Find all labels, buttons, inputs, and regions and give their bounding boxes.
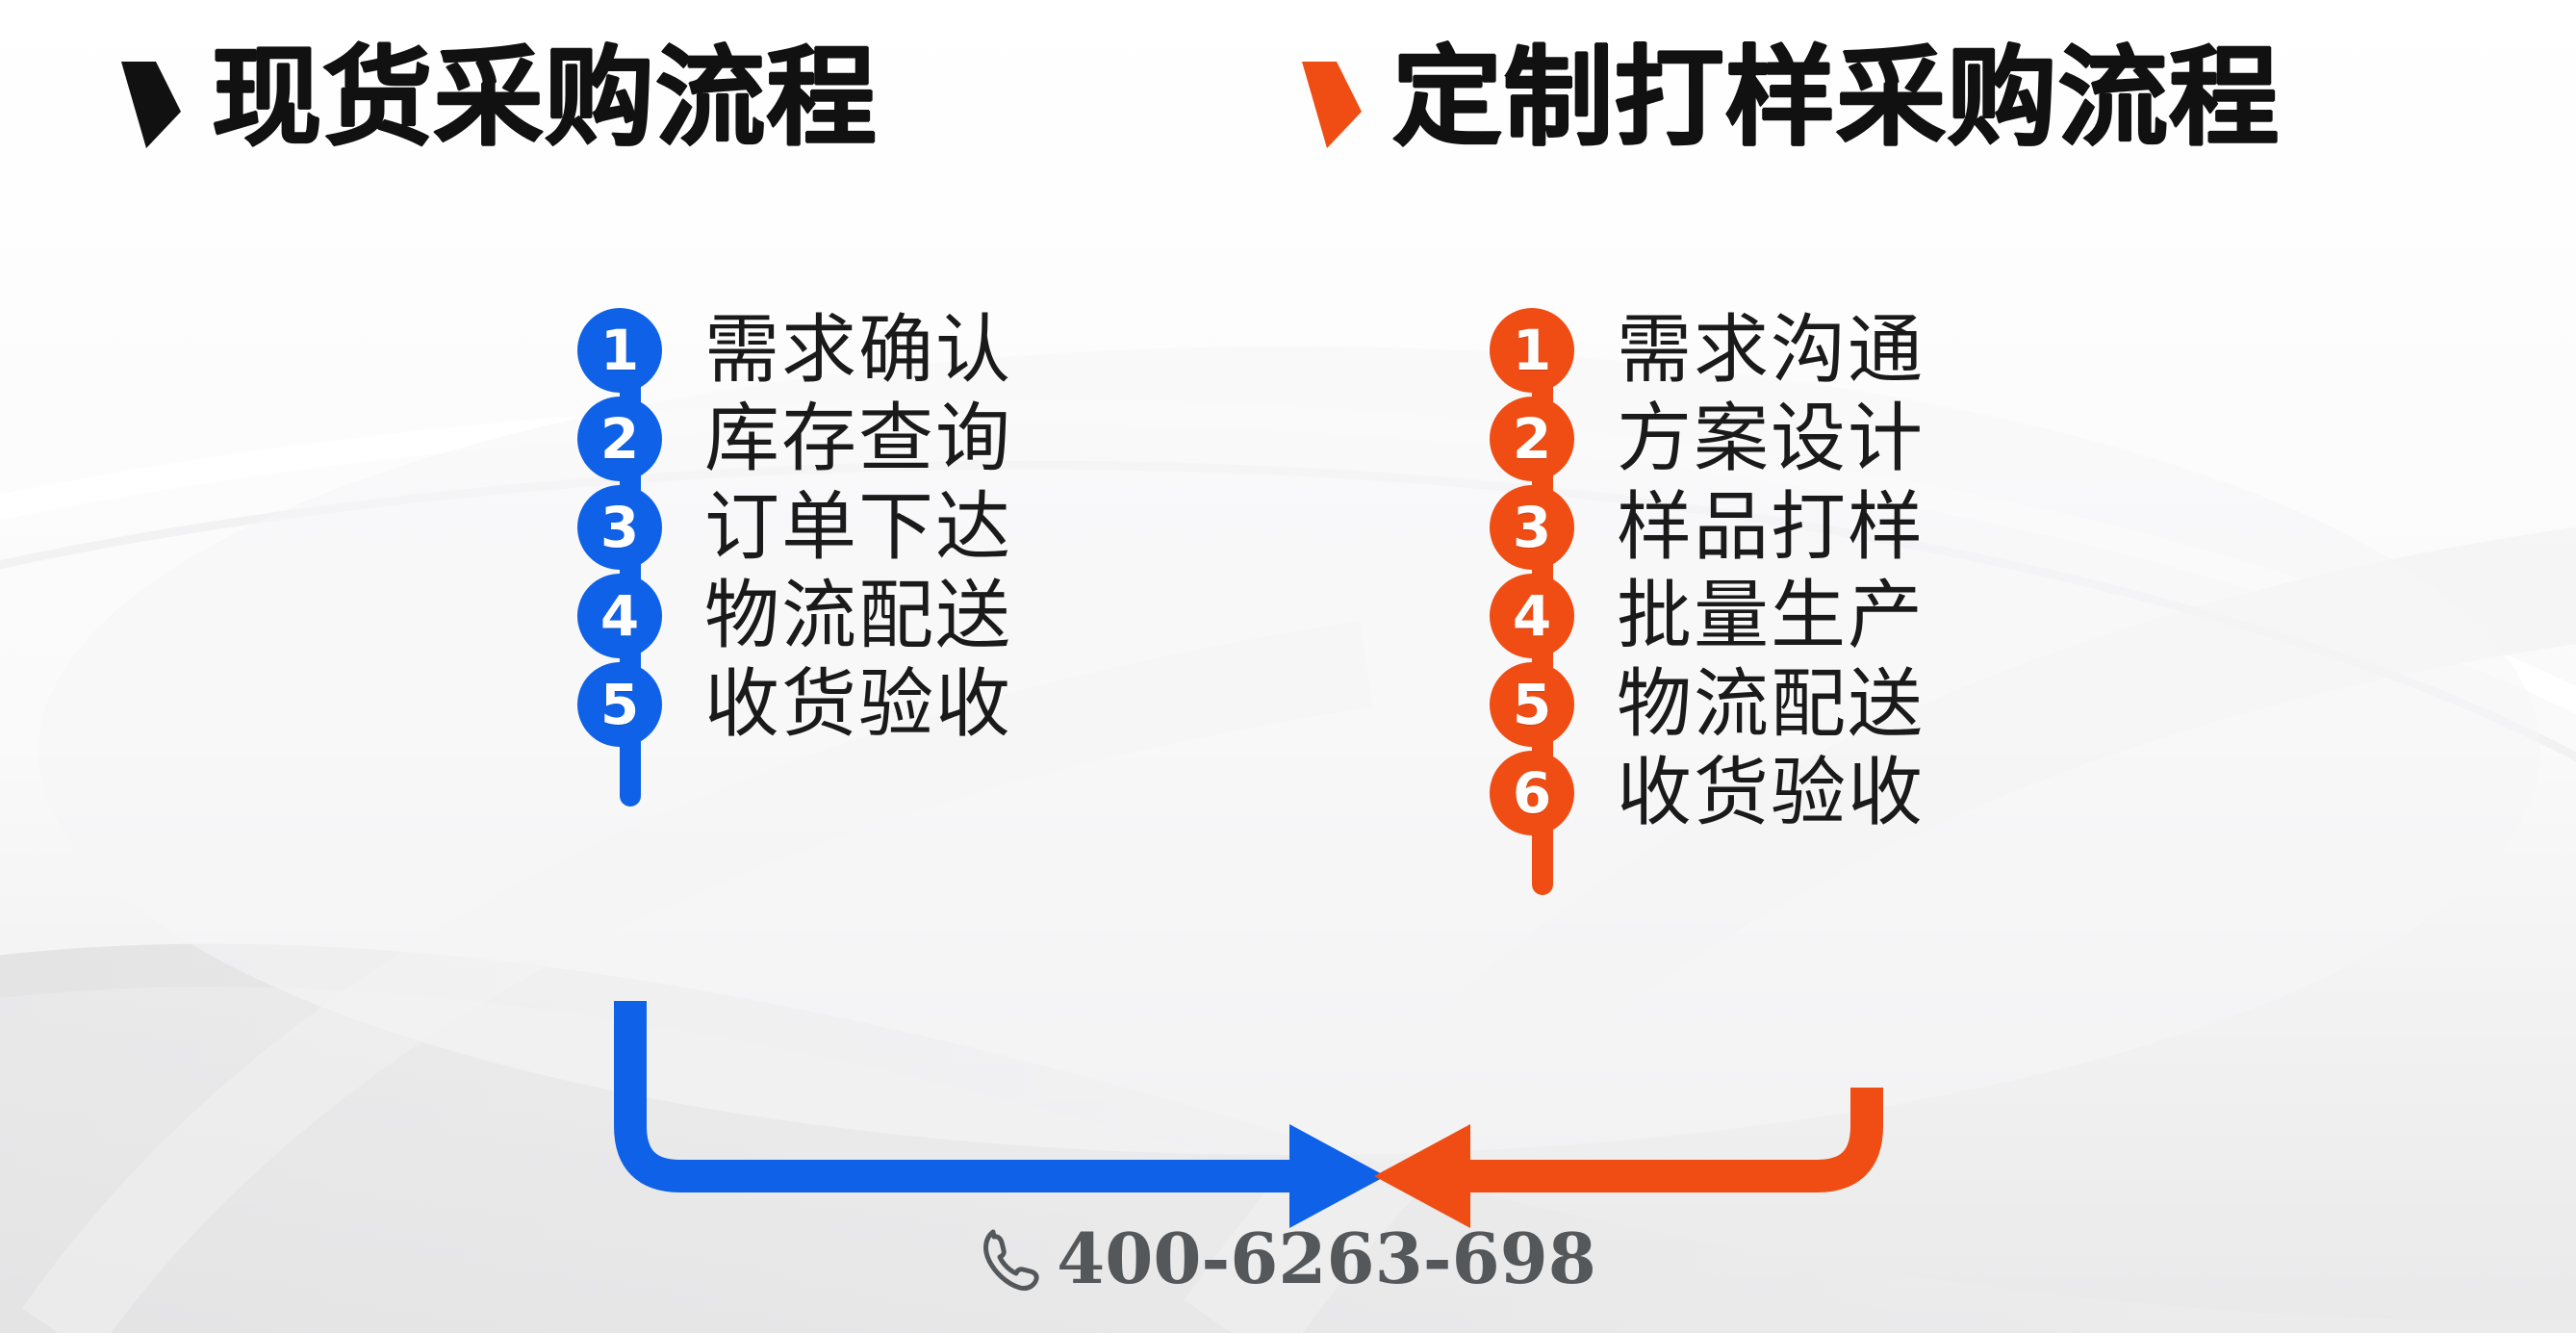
step-number-badge: 1 bbox=[1490, 308, 1574, 393]
left-flow-steps: 1 需求确认 2 库存查询 3 订单下达 4 物流配送 5 收货验收 bbox=[577, 306, 1012, 749]
list-item[interactable]: 4 物流配送 bbox=[577, 572, 1012, 660]
step-number-badge: 4 bbox=[1490, 574, 1574, 658]
infographic-canvas: 现货采购流程 定制打样采购流程 1 需求确认 2 库存查询 3 订单下达 4 bbox=[0, 0, 2576, 1333]
titles-row: 现货采购流程 定制打样采购流程 bbox=[0, 0, 2576, 192]
step-label: 批量生产 bbox=[1617, 578, 1925, 654]
step-number-badge: 4 bbox=[577, 574, 662, 658]
step-number-badge: 2 bbox=[577, 397, 662, 481]
step-number-badge: 3 bbox=[1490, 485, 1574, 570]
left-flow-title-block: 现货采购流程 bbox=[114, 44, 864, 152]
step-number-badge: 1 bbox=[577, 308, 662, 393]
list-item[interactable]: 2 方案设计 bbox=[1490, 395, 1925, 483]
step-label: 需求确认 bbox=[704, 313, 1012, 388]
right-flow-title-block: 定制打样采购流程 bbox=[1294, 44, 2262, 152]
right-flow-steps: 1 需求沟通 2 方案设计 3 样品打样 4 批量生产 5 物流配送 6 收货验… bbox=[1490, 306, 1925, 837]
list-item[interactable]: 1 需求确认 bbox=[577, 306, 1012, 395]
step-label: 库存查询 bbox=[704, 401, 1012, 476]
step-number-badge: 3 bbox=[577, 485, 662, 570]
step-label: 样品打样 bbox=[1617, 490, 1925, 565]
list-item[interactable]: 2 库存查询 bbox=[577, 395, 1012, 483]
chevron-right-icon bbox=[1294, 44, 1367, 152]
footer-contact: 400-6263-698 bbox=[0, 1224, 2576, 1294]
step-label: 收货验收 bbox=[704, 667, 1012, 742]
list-item[interactable]: 3 订单下达 bbox=[577, 483, 1012, 572]
step-label: 需求沟通 bbox=[1617, 313, 1925, 388]
left-flow-title: 现货采购流程 bbox=[212, 44, 878, 152]
phone-number: 400-6263-698 bbox=[1057, 1224, 1596, 1294]
list-item[interactable]: 3 样品打样 bbox=[1490, 483, 1925, 572]
list-item[interactable]: 1 需求沟通 bbox=[1490, 306, 1925, 395]
list-item[interactable]: 6 收货验收 bbox=[1490, 749, 1925, 837]
step-number-badge: 5 bbox=[577, 662, 662, 747]
step-label: 收货验收 bbox=[1617, 756, 1925, 831]
step-number-badge: 6 bbox=[1490, 751, 1574, 835]
phone-handset-icon bbox=[980, 1224, 1043, 1294]
step-label: 物流配送 bbox=[1617, 667, 1925, 742]
list-item[interactable]: 5 物流配送 bbox=[1490, 660, 1925, 749]
list-item[interactable]: 4 批量生产 bbox=[1490, 572, 1925, 660]
step-label: 订单下达 bbox=[704, 490, 1012, 565]
list-item[interactable]: 5 收货验收 bbox=[577, 660, 1012, 749]
right-flow-title: 定制打样采购流程 bbox=[1392, 44, 2280, 152]
step-number-badge: 2 bbox=[1490, 397, 1574, 481]
chevron-right-icon bbox=[114, 44, 187, 152]
step-label: 方案设计 bbox=[1617, 401, 1925, 476]
background-decoration bbox=[0, 0, 2576, 1333]
step-number-badge: 5 bbox=[1490, 662, 1574, 747]
step-label: 物流配送 bbox=[704, 578, 1012, 654]
